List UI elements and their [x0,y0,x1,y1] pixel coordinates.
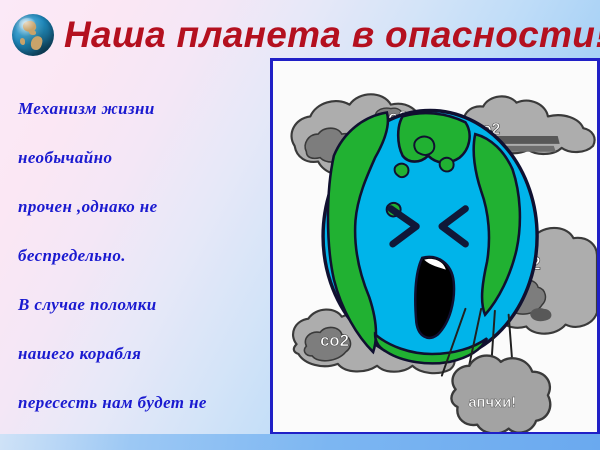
earth-island [414,137,434,155]
bottom-decorative-band [0,434,600,450]
globe-highlight [19,18,37,31]
body-text-line: В случае поломки [18,296,270,314]
body-text-line: нашего корабля [18,345,270,363]
co2-label: co2 [320,331,349,350]
page-title: Наша планета в опасности! [64,15,600,55]
earth-island [395,164,409,177]
slide-title-row: Наша планета в опасности! [12,10,600,60]
body-text-line: Механизм жизни [18,100,270,118]
polluted-earth-illustration: co2 co2 co2 [273,61,597,432]
globe-icon [12,14,54,56]
sneeze-label: апчхи! [468,395,516,411]
earth-land [398,113,469,163]
earth-character [323,111,537,364]
body-text-line: беспредельно. [18,247,270,265]
body-text-block: Механизм жизни необычайно прочен ,однако… [18,100,270,443]
illustration-panel: co2 co2 co2 [270,58,600,435]
body-text-line: прочен ,однако не [18,198,270,216]
body-text-line: пересесть нам будет не [18,394,270,412]
body-text-line: необычайно [18,149,270,167]
sneeze-cloud: апчхи! [451,356,550,432]
earth-island [440,158,454,172]
globe-landmass [30,35,44,51]
globe-landmass [20,38,25,44]
slide-canvas: Наша планета в опасности! Механизм жизни… [0,0,600,450]
